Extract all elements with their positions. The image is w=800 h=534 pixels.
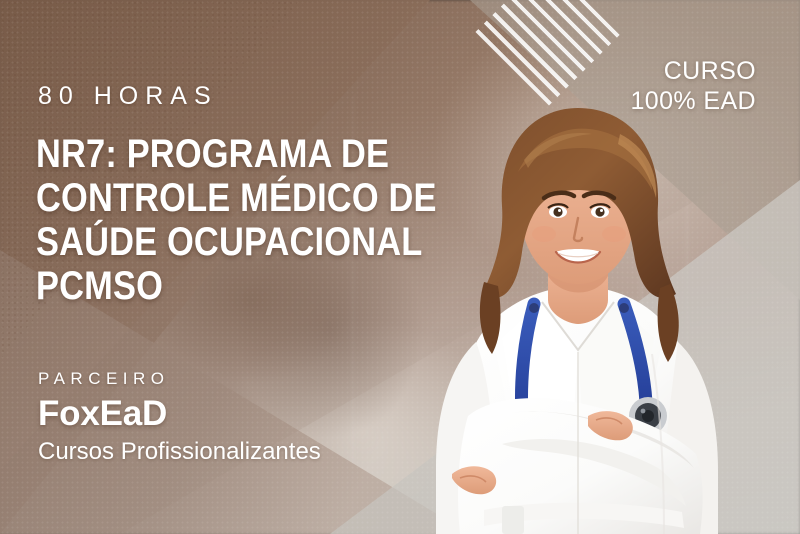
badge-line-ead: 100% EAD	[631, 86, 757, 116]
course-title-line: CONTROLE MÉDICO DE	[36, 176, 380, 220]
partner-subtitle: Cursos Profissionalizantes	[38, 439, 321, 465]
course-title-line: SAÚDE OCUPACIONAL	[36, 220, 380, 264]
badge-line-curso: CURSO	[631, 56, 757, 86]
course-title-line: PCMSO	[36, 264, 380, 308]
partner-name: FoxEaD	[38, 396, 321, 431]
course-title: NR7: PROGRAMA DE CONTROLE MÉDICO DE SAÚD…	[36, 132, 380, 308]
course-banner: 80 HORAS NR7: PROGRAMA DE CONTROLE MÉDIC…	[0, 0, 800, 534]
partner-block: PARCEIRO FoxEaD Cursos Profissionalizant…	[38, 370, 321, 465]
doctor-figure	[352, 86, 800, 534]
course-modality-badge: CURSO 100% EAD	[631, 56, 757, 116]
course-hours-label: 80 HORAS	[38, 84, 218, 109]
partner-kicker-label: PARCEIRO	[38, 370, 321, 387]
course-title-line: NR7: PROGRAMA DE	[36, 132, 380, 176]
